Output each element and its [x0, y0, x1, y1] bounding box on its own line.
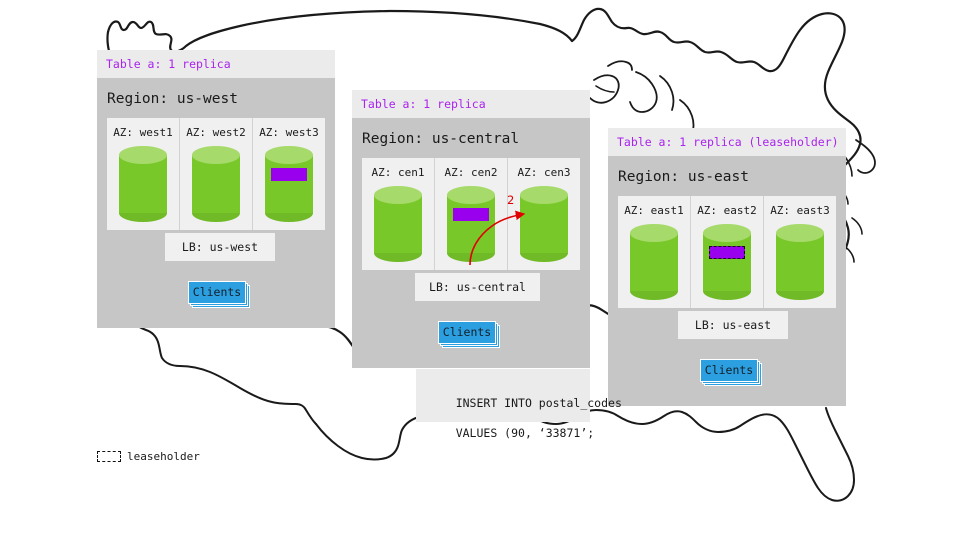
legend-label: leaseholder	[127, 450, 200, 463]
region-body-us-west: Region: us-west AZ: west1 AZ: west2	[97, 78, 335, 328]
node-cylinder-cen3[interactable]	[520, 186, 568, 260]
cylinder-top-icon	[630, 224, 678, 242]
az-cell-east2[interactable]: AZ: east2	[691, 196, 764, 308]
cylinder-top-icon	[265, 146, 313, 164]
node-cylinder-east3[interactable]	[776, 224, 824, 298]
cylinder-top-icon	[703, 224, 751, 242]
az-cell-east3[interactable]: AZ: east3	[764, 196, 836, 308]
az-label-cen3: AZ: cen3	[508, 166, 580, 179]
dashed-rectangle-icon	[97, 451, 121, 462]
region-title-us-central: Region: us-central	[352, 118, 590, 158]
cylinder-top-icon	[374, 186, 422, 204]
az-cell-west1[interactable]: AZ: west1	[107, 118, 180, 230]
node-cylinder-east2[interactable]	[703, 224, 751, 298]
region-body-us-central: Region: us-central AZ: cen1 AZ: cen2	[352, 118, 590, 368]
region-header-us-central: Table a: 1 replica	[352, 90, 590, 118]
clients-button-label-us-central: Clients	[438, 321, 496, 344]
az-cell-cen3[interactable]: AZ: cen3	[508, 158, 580, 270]
replica-marker-leaseholder-east2	[709, 246, 745, 259]
replica-marker-west3	[271, 168, 307, 181]
cylinder-top-icon	[520, 186, 568, 204]
sql-line-2: VALUES (90, ‘33871’;	[456, 426, 594, 440]
region-title-us-east: Region: us-east	[608, 156, 846, 196]
node-cylinder-west2[interactable]	[192, 146, 240, 220]
az-cell-cen1[interactable]: AZ: cen1	[362, 158, 435, 270]
region-panel-us-central: Table a: 1 replica Region: us-central AZ…	[352, 90, 590, 368]
cylinder-top-icon	[447, 186, 495, 204]
node-cylinder-cen1[interactable]	[374, 186, 422, 260]
az-cell-east1[interactable]: AZ: east1	[618, 196, 691, 308]
region-title-us-west: Region: us-west	[97, 78, 335, 118]
az-label-west1: AZ: west1	[107, 126, 179, 139]
legend: leaseholder	[97, 450, 200, 463]
node-cylinder-cen2[interactable]	[447, 186, 495, 260]
clients-button-us-east[interactable]: Clients	[700, 359, 762, 385]
region-body-us-east: Region: us-east AZ: east1 AZ: east2	[608, 156, 846, 406]
sql-line-1: INSERT INTO postal_codes	[456, 396, 622, 410]
region-header-us-east: Table a: 1 replica (leaseholder)	[608, 128, 846, 156]
az-label-west2: AZ: west2	[180, 126, 252, 139]
clients-button-us-central[interactable]: Clients	[438, 321, 500, 347]
node-cylinder-west3[interactable]	[265, 146, 313, 220]
node-cylinder-west1[interactable]	[119, 146, 167, 220]
region-panel-us-east: Table a: 1 replica (leaseholder) Region:…	[608, 128, 846, 406]
region-header-us-west: Table a: 1 replica	[97, 50, 335, 78]
az-label-west3: AZ: west3	[253, 126, 325, 139]
cylinder-top-icon	[776, 224, 824, 242]
load-balancer-us-west[interactable]: LB: us-west	[165, 233, 275, 261]
az-label-cen1: AZ: cen1	[362, 166, 434, 179]
clients-button-label-us-west: Clients	[188, 281, 246, 304]
az-label-east3: AZ: east3	[764, 204, 836, 217]
load-balancer-us-central[interactable]: LB: us-central	[415, 273, 540, 301]
az-label-east2: AZ: east2	[691, 204, 763, 217]
az-row-us-west: AZ: west1 AZ: west2	[107, 118, 325, 230]
replication-arrow-label: 2	[507, 193, 514, 207]
region-panel-us-west: Table a: 1 replica Region: us-west AZ: w…	[97, 50, 335, 328]
cylinder-top-icon	[192, 146, 240, 164]
clients-button-us-west[interactable]: Clients	[188, 281, 250, 307]
clients-button-label-us-east: Clients	[700, 359, 758, 382]
az-cell-west3[interactable]: AZ: west3	[253, 118, 325, 230]
az-label-cen2: AZ: cen2	[435, 166, 507, 179]
node-cylinder-east1[interactable]	[630, 224, 678, 298]
sql-statement-box: INSERT INTO postal_codes VALUES (90, ‘33…	[416, 369, 590, 422]
az-cell-cen2[interactable]: AZ: cen2	[435, 158, 508, 270]
diagram-canvas: Table a: 1 replica Region: us-west AZ: w…	[0, 0, 960, 540]
replica-marker-cen2	[453, 208, 489, 221]
az-cell-west2[interactable]: AZ: west2	[180, 118, 253, 230]
cylinder-top-icon	[119, 146, 167, 164]
az-label-east1: AZ: east1	[618, 204, 690, 217]
az-row-us-central: AZ: cen1 AZ: cen2	[362, 158, 580, 270]
load-balancer-us-east[interactable]: LB: us-east	[678, 311, 788, 339]
az-row-us-east: AZ: east1 AZ: east2	[618, 196, 836, 308]
